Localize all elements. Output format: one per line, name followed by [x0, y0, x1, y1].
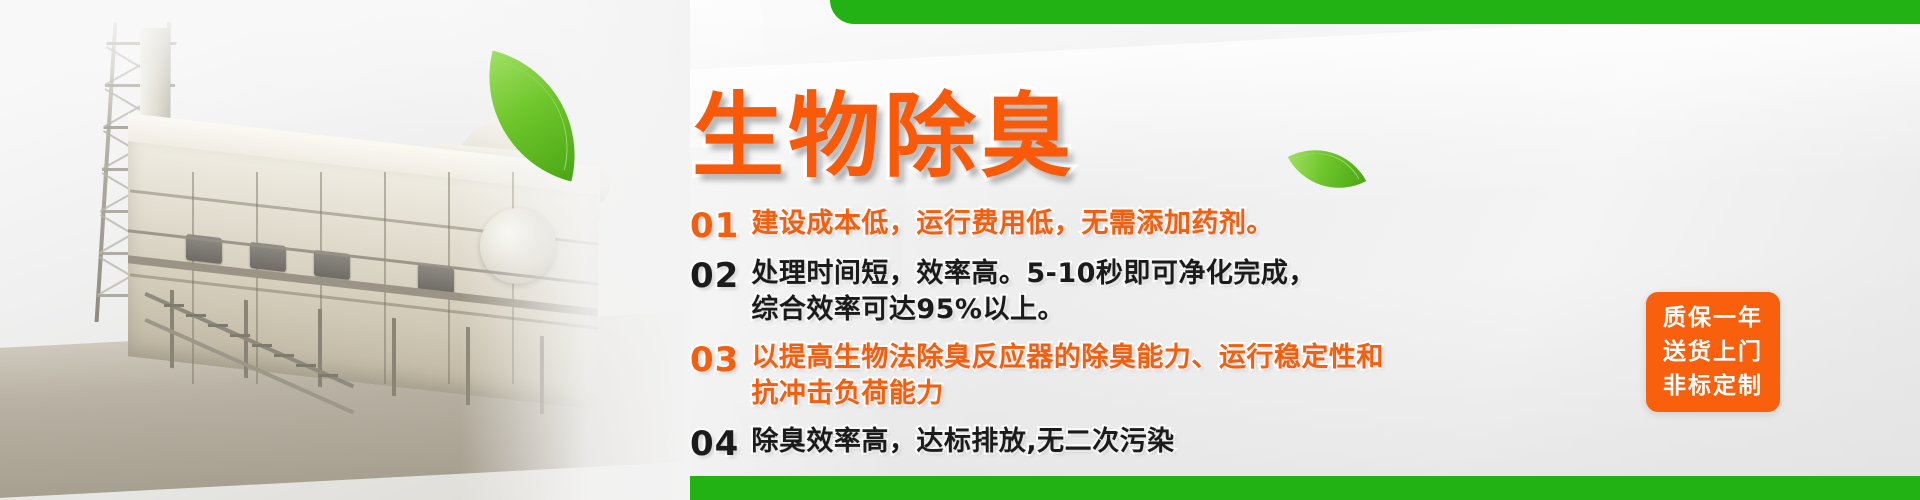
feature-number: 04 — [690, 424, 739, 464]
feature-number: 01 — [690, 206, 739, 246]
feature-text: 处理时间短，效率高。5-10秒即可净化完成， 综合效率可达95%以上。 — [751, 256, 1316, 328]
service-guarantee-badge: 质保一年 送货上门 非标定制 — [1646, 292, 1780, 412]
feature-line: 抗冲击负荷能力 — [751, 376, 1384, 412]
banner-content: 生物除臭 01 建设成本低，运行费用低，无需添加药剂。 02 处理时间短，效率高… — [686, 0, 1920, 500]
feature-line: 以提高生物法除臭反应器的除臭能力、运行稳定性和 — [751, 342, 1384, 373]
page-title: 生物除臭 — [692, 62, 1076, 195]
stair-rail — [144, 318, 354, 414]
stair-step — [164, 304, 184, 307]
feature-line: 综合效率可达95%以上。 — [751, 292, 1316, 328]
stair-step — [230, 334, 250, 337]
feature-text: 建设成本低，运行费用低，无需添加药剂。 — [751, 206, 1274, 242]
list-item: 01 建设成本低，运行费用低，无需添加药剂。 — [690, 206, 1890, 246]
feature-line: 处理时间短，效率高。5-10秒即可净化完成， — [751, 258, 1316, 289]
feature-number: 02 — [690, 256, 739, 296]
tank-seam — [384, 172, 386, 384]
stair-step — [296, 364, 316, 367]
feature-line: 建设成本低，运行费用低，无需添加药剂。 — [751, 208, 1274, 239]
badge-line-warranty: 质保一年 — [1663, 301, 1763, 335]
access-staircase — [146, 292, 361, 400]
stair-step — [186, 314, 206, 317]
promo-banner: 生物除臭 01 建设成本低，运行费用低，无需添加药剂。 02 处理时间短，效率高… — [0, 0, 1920, 500]
stair-step — [252, 344, 272, 347]
list-item: 04 除臭效率高，达标排放,无二次污染 — [690, 424, 1890, 464]
badge-line-delivery: 送货上门 — [1663, 335, 1763, 369]
stair-step — [318, 374, 338, 377]
stair-step — [208, 324, 228, 327]
support-post — [392, 318, 396, 396]
stair-step — [274, 354, 294, 357]
feature-text: 除臭效率高，达标排放,无二次污染 — [751, 424, 1174, 460]
feature-number: 03 — [690, 340, 739, 380]
badge-line-custom: 非标定制 — [1663, 369, 1763, 403]
feature-text: 以提高生物法除臭反应器的除臭能力、运行稳定性和 抗冲击负荷能力 — [751, 340, 1384, 412]
feature-line: 除臭效率高，达标排放,无二次污染 — [751, 426, 1174, 457]
